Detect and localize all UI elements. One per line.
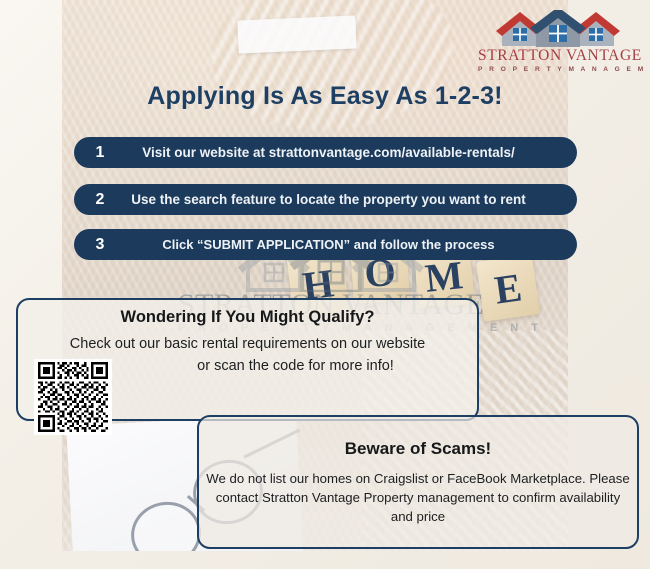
qualify-line-2: or scan the code for more info! (114, 358, 477, 374)
logo-tagline: P R O P E R T Y M A N A G E M E N T (478, 66, 636, 73)
step-item-2: 2 Use the search feature to locate the p… (74, 184, 577, 215)
step-number-1: 1 (74, 144, 126, 162)
brand-logo: STRATTON VANTAGE P R O P E R T Y M A N A… (478, 10, 636, 80)
step-item-3: 3 Click “SUBMIT APPLICATION” and follow … (74, 229, 577, 260)
step-text-1: Visit our website at strattonvantage.com… (126, 145, 577, 160)
scams-body: We do not list our homes on Craigslist o… (205, 469, 631, 526)
step-text-3: Click “SUBMIT APPLICATION” and follow th… (126, 237, 577, 252)
letter-block-e: E (476, 254, 540, 321)
scams-heading: Beware of Scams! (199, 439, 637, 459)
logo-name: STRATTON VANTAGE (478, 47, 636, 65)
qualify-box: Wondering If You Might Qualify? Check ou… (16, 298, 479, 421)
qr-code-icon[interactable] (34, 359, 112, 435)
tape-strip (237, 15, 356, 53)
step-number-2: 2 (74, 191, 126, 209)
step-text-2: Use the search feature to locate the pro… (126, 192, 577, 207)
scams-box: Beware of Scams! We do not list our home… (197, 415, 639, 549)
step-item-1: 1 Visit our website at strattonvantage.c… (74, 137, 577, 168)
three-houses-icon (494, 10, 622, 48)
page-title: Applying Is As Easy As 1-2-3! (0, 82, 650, 111)
flyer-canvas: H O M E (0, 0, 650, 569)
step-number-3: 3 (74, 236, 126, 254)
qualify-heading: Wondering If You Might Qualify? (18, 308, 477, 327)
qualify-line-1: Check out our basic rental requirements … (18, 336, 477, 352)
